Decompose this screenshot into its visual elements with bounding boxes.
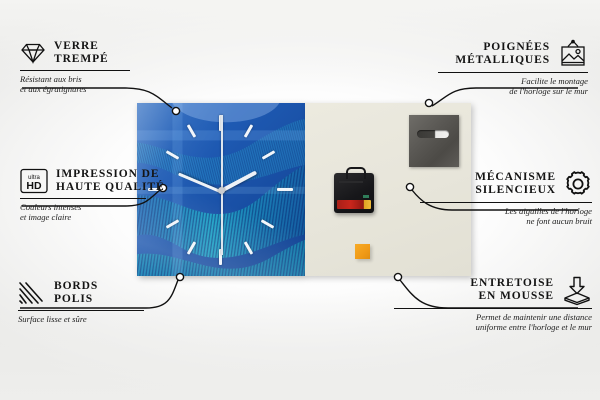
callout-subtitle-line1: Facilite le montage <box>388 76 588 86</box>
callout-subtitle-line2: et aux égratignures <box>20 84 200 94</box>
callout-metal-handles[interactable]: POIGNÉES MÉTALLIQUES Facilite le montag <box>388 40 588 97</box>
hanger-plate <box>409 115 459 167</box>
callout-header: ultra HD IMPRESSION DE HAUTE QUALITÉ <box>20 168 220 194</box>
foam-spacer <box>355 244 370 259</box>
callout-divider <box>420 202 592 203</box>
callout-title: ENTRETOISE EN MOUSSE <box>470 277 554 303</box>
callout-header: ENTRETOISE EN MOUSSE <box>362 276 592 304</box>
callout-title: BORDS POLIS <box>54 280 98 306</box>
callout-divider <box>18 310 144 311</box>
callout-subtitle-line2: de l'horloge sur le mur <box>388 86 588 96</box>
callout-silent-mechanism[interactable]: MÉCANISME SILENCIEUX Les aiguilles de l'… <box>377 170 592 227</box>
callout-header: BORDS POLIS <box>18 280 208 306</box>
callout-header: VERRE TREMPÉ <box>20 40 200 66</box>
callout-title: MÉCANISME SILENCIEUX <box>475 171 556 197</box>
ultra-hd-icon: ultra HD <box>20 168 48 194</box>
callout-subtitle-line1: Surface lisse et sûre <box>18 314 208 324</box>
hour-tick <box>277 188 293 191</box>
callout-subtitle-line1: Couleurs intenses <box>20 202 220 212</box>
callout-header: MÉCANISME SILENCIEUX <box>377 170 592 198</box>
callout-subtitle-line2: uniforme entre l'horloge et le mur <box>362 322 592 332</box>
callout-divider <box>20 70 130 71</box>
callout-divider <box>438 72 588 73</box>
callout-subtitle-line1: Permet de maintenir une distance <box>362 312 592 322</box>
callout-divider <box>20 198 146 199</box>
infographic-canvas: VERRE TREMPÉ Résistant aux bris et aux é… <box>0 0 600 400</box>
callout-header: POIGNÉES MÉTALLIQUES <box>388 40 588 68</box>
callout-hd-print[interactable]: ultra HD IMPRESSION DE HAUTE QUALITÉ Cou… <box>20 168 220 223</box>
callout-tempered-glass[interactable]: VERRE TREMPÉ Résistant aux bris et aux é… <box>20 40 200 95</box>
mechanism-hook <box>346 167 366 179</box>
hanging-frame-icon <box>558 40 588 68</box>
gear-icon <box>564 170 592 198</box>
battery <box>337 200 371 209</box>
callout-foam-spacer[interactable]: ENTRETOISE EN MOUSSE Permet de maintenir… <box>362 276 592 333</box>
callout-title: IMPRESSION DE HAUTE QUALITÉ <box>56 168 165 194</box>
callout-subtitle-line1: Résistant aux bris <box>20 74 200 84</box>
second-hand <box>221 115 223 255</box>
callout-title: VERRE TREMPÉ <box>54 40 109 66</box>
hatched-edge-icon <box>18 281 46 305</box>
callout-subtitle-line2: ne font aucun bruit <box>377 216 592 226</box>
callout-subtitle-line2: et image claire <box>20 212 220 222</box>
callout-title: POIGNÉES MÉTALLIQUES <box>455 41 550 67</box>
mechanism-chip <box>363 195 369 198</box>
clock-mechanism <box>334 173 374 213</box>
mechanism-detail <box>339 181 363 183</box>
hanger-keyhole-slot <box>417 130 449 138</box>
callout-polished-edges[interactable]: BORDS POLIS Surface lisse et sûre <box>18 280 208 324</box>
callout-divider <box>394 308 592 309</box>
press-down-icon <box>562 276 592 304</box>
svg-text:HD: HD <box>26 180 42 192</box>
callout-subtitle-line1: Les aiguilles de l'horloge <box>377 206 592 216</box>
diamond-icon <box>20 42 46 64</box>
